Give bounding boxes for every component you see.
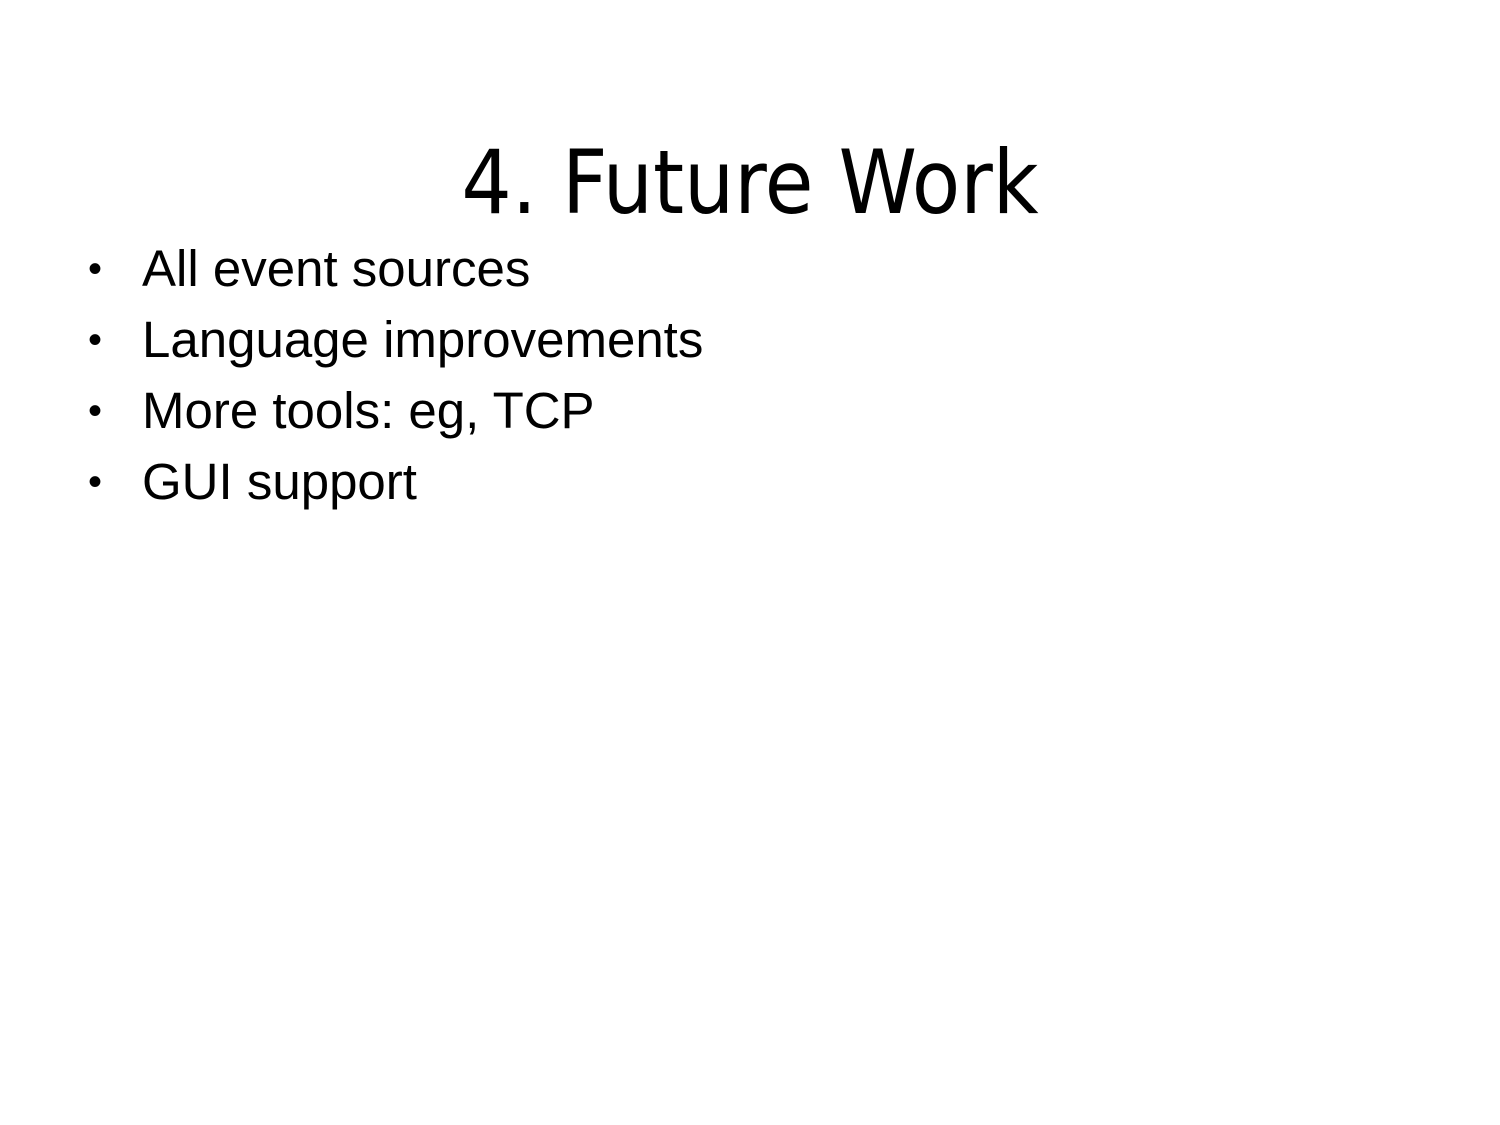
list-item-label: GUI support	[142, 451, 1428, 513]
page-title: 4. Future Work	[0, 137, 1500, 229]
list-item: • Language improvements	[78, 309, 1428, 380]
list-item: • More tools: eg, TCP	[78, 380, 1428, 451]
bullet-point-icon: •	[78, 380, 142, 442]
list-item: • All event sources	[78, 238, 1428, 309]
bullet-list: • All event sources • Language improveme…	[78, 238, 1428, 522]
presentation-slide: 4. Future Work • All event sources • Lan…	[0, 0, 1500, 1125]
list-item-label: Language improvements	[142, 309, 1428, 371]
list-item-label: All event sources	[142, 238, 1428, 300]
bullet-point-icon: •	[78, 238, 142, 300]
bullet-point-icon: •	[78, 451, 142, 513]
bullet-point-icon: •	[78, 309, 142, 371]
list-item: • GUI support	[78, 451, 1428, 522]
list-item-label: More tools: eg, TCP	[142, 380, 1428, 442]
